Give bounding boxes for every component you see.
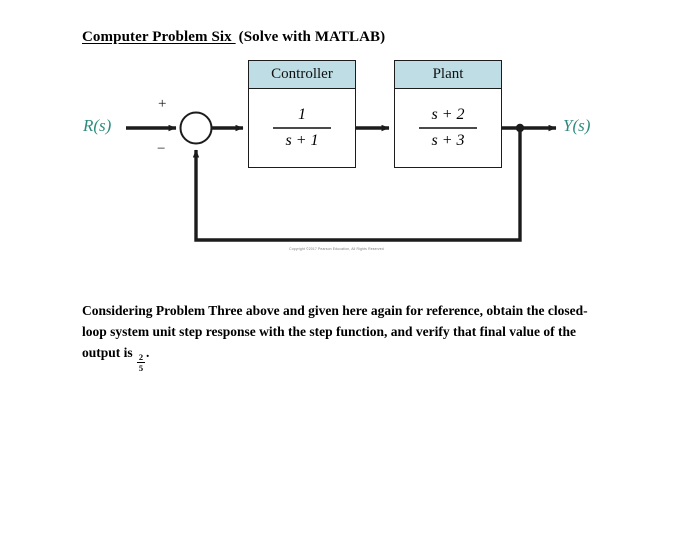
output-signal-label: Y(s) [563,116,590,136]
controller-denominator: s + 1 [279,132,324,150]
plant-block-header: Plant [395,61,501,89]
copyright-notice: Copyright ©2017 Pearson Education, All R… [0,247,673,251]
plant-fraction: s + 2 s + 3 [419,106,477,149]
controller-fraction: 1 s + 1 [273,106,331,149]
controller-block-header: Controller [249,61,355,89]
summing-junction-plus-sign: + [158,96,166,113]
controller-fraction-bar [273,127,331,128]
controller-numerator: 1 [292,106,312,124]
final-value-fraction: 25 [137,353,145,373]
plant-block: Plant s + 2 s + 3 [394,60,502,168]
question-text-after-fraction: . [146,345,149,360]
question-text-before-fraction: Considering Problem Three above and give… [82,303,588,360]
plant-transfer-function: s + 2 s + 3 [395,89,501,167]
plant-fraction-bar [419,127,477,128]
final-value-numerator: 2 [139,353,143,362]
summing-junction [181,113,212,144]
controller-transfer-function: 1 s + 1 [249,89,355,167]
summing-junction-minus-sign: − [157,141,165,158]
plant-numerator: s + 2 [425,106,470,124]
input-signal-label: R(s) [83,116,111,136]
question-text: Considering Problem Three above and give… [82,300,602,373]
block-diagram: R(s) Y(s) + − Controller 1 s + 1 Plant s… [0,0,673,290]
controller-block: Controller 1 s + 1 [248,60,356,168]
plant-denominator: s + 3 [425,132,470,150]
final-value-denominator: 5 [139,364,143,373]
